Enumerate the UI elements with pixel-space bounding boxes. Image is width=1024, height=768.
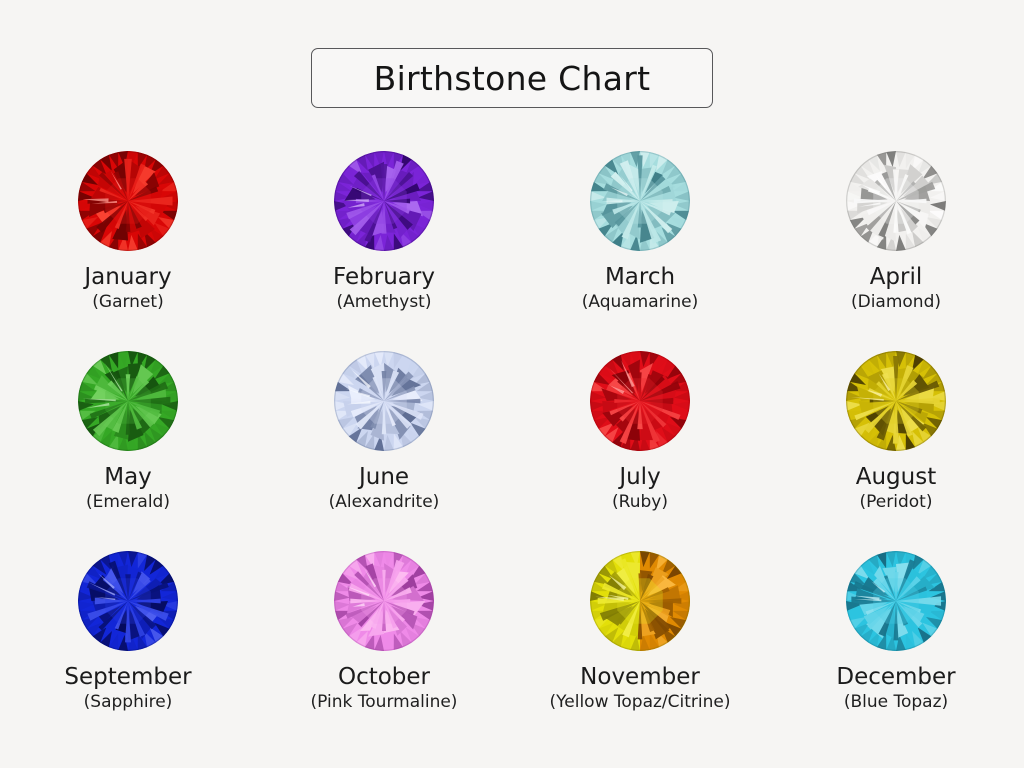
birthstone-cell-november: November(Yellow Topaz/Citrine) bbox=[512, 535, 768, 735]
gem-icon-pink-tourmaline bbox=[332, 549, 436, 653]
month-label: March bbox=[605, 265, 675, 289]
birthstone-cell-december: December(Blue Topaz) bbox=[768, 535, 1024, 735]
chart-title-box: Birthstone Chart bbox=[311, 48, 713, 108]
gem-icon-amethyst bbox=[332, 149, 436, 253]
birthstone-cell-may: May(Emerald) bbox=[0, 335, 256, 535]
gem-icon-ruby bbox=[588, 349, 692, 453]
gem-icon-diamond bbox=[844, 149, 948, 253]
gem-icon-aquamarine bbox=[588, 149, 692, 253]
birthstone-cell-september: September(Sapphire) bbox=[0, 535, 256, 735]
gem-icon-alexandrite bbox=[332, 349, 436, 453]
month-label: December bbox=[836, 665, 955, 689]
birthstone-grid: January(Garnet)February(Amethyst)March(A… bbox=[0, 135, 1024, 735]
month-label: January bbox=[84, 265, 171, 289]
stone-label: (Garnet) bbox=[92, 294, 163, 312]
stone-label: (Blue Topaz) bbox=[844, 694, 948, 712]
month-label: May bbox=[104, 465, 152, 489]
birthstone-cell-january: January(Garnet) bbox=[0, 135, 256, 335]
birthstone-cell-october: October(Pink Tourmaline) bbox=[256, 535, 512, 735]
month-label: November bbox=[580, 665, 700, 689]
stone-label: (Yellow Topaz/Citrine) bbox=[550, 694, 731, 712]
page-title: Birthstone Chart bbox=[374, 62, 651, 95]
month-label: July bbox=[619, 465, 660, 489]
month-label: April bbox=[870, 265, 923, 289]
month-label: September bbox=[64, 665, 191, 689]
birthstone-cell-march: March(Aquamarine) bbox=[512, 135, 768, 335]
stone-label: (Emerald) bbox=[86, 494, 170, 512]
stone-label: (Aquamarine) bbox=[582, 294, 699, 312]
birthstone-cell-february: February(Amethyst) bbox=[256, 135, 512, 335]
month-label: June bbox=[359, 465, 409, 489]
gem-icon-sapphire bbox=[76, 549, 180, 653]
birthstone-cell-april: April(Diamond) bbox=[768, 135, 1024, 335]
month-label: February bbox=[333, 265, 435, 289]
month-label: October bbox=[338, 665, 430, 689]
birthstone-cell-july: July(Ruby) bbox=[512, 335, 768, 535]
stone-label: (Peridot) bbox=[860, 494, 933, 512]
gem-icon-blue-topaz bbox=[844, 549, 948, 653]
stone-label: (Alexandrite) bbox=[329, 494, 440, 512]
birthstone-cell-june: June(Alexandrite) bbox=[256, 335, 512, 535]
stone-label: (Ruby) bbox=[612, 494, 668, 512]
gem-icon-emerald bbox=[76, 349, 180, 453]
gem-icon-garnet bbox=[76, 149, 180, 253]
month-label: August bbox=[856, 465, 937, 489]
gem-icon-yellow-topaz-citrine bbox=[588, 549, 692, 653]
birthstone-chart-page: Birthstone Chart January(Garnet)February… bbox=[0, 0, 1024, 768]
stone-label: (Sapphire) bbox=[84, 694, 173, 712]
stone-label: (Diamond) bbox=[851, 294, 941, 312]
birthstone-cell-august: August(Peridot) bbox=[768, 335, 1024, 535]
gem-icon-peridot bbox=[844, 349, 948, 453]
stone-label: (Amethyst) bbox=[337, 294, 432, 312]
stone-label: (Pink Tourmaline) bbox=[311, 694, 458, 712]
